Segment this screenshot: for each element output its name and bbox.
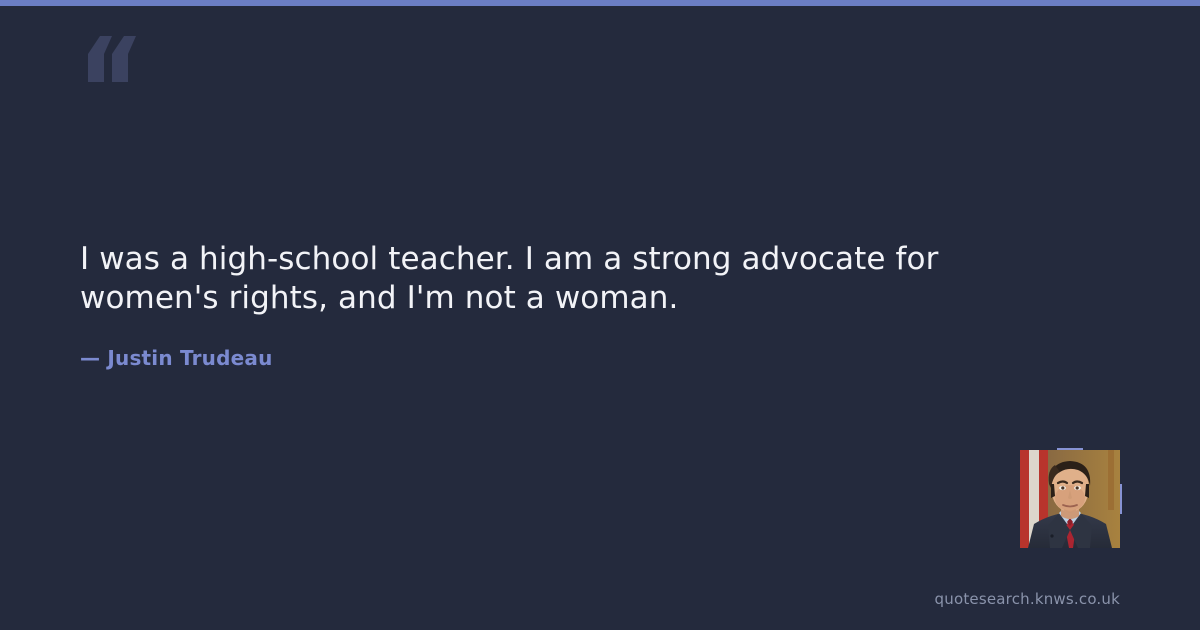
author-portrait: [1020, 450, 1120, 548]
top-accent-bar: [0, 0, 1200, 6]
quote-block: I was a high-school teacher. I am a stro…: [80, 240, 1020, 370]
portrait-edge-highlight-top: [1057, 448, 1083, 450]
quote-text: I was a high-school teacher. I am a stro…: [80, 240, 1020, 318]
footer-source-url: quotesearch.knws.co.uk: [935, 590, 1120, 608]
quote-attribution: — Justin Trudeau: [80, 346, 1020, 370]
portrait-edge-highlight-right: [1120, 484, 1122, 514]
double-quote-open-icon: [80, 36, 136, 82]
